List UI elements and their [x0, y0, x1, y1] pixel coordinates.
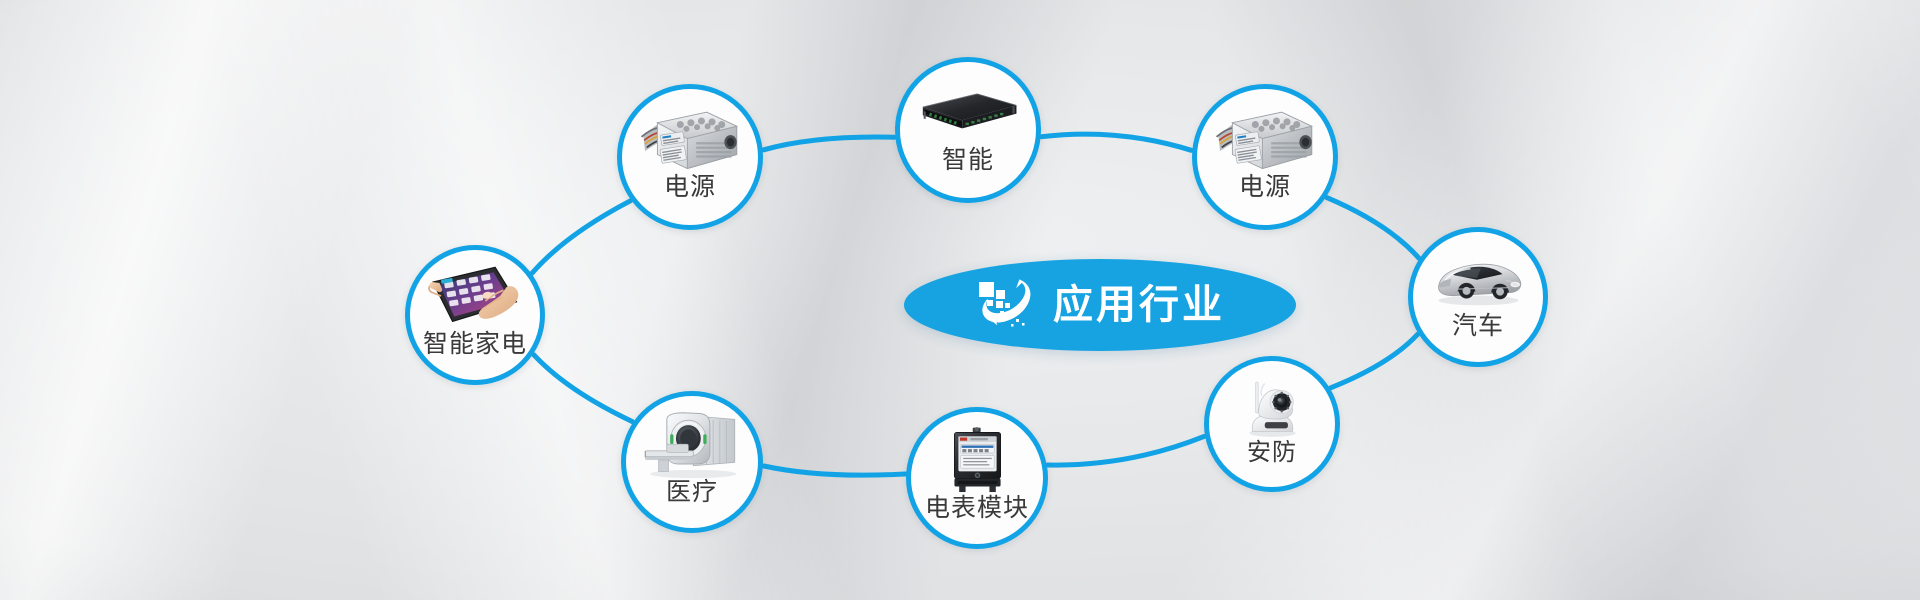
node-smart[interactable]: 智能	[895, 57, 1041, 203]
rack-server-icon	[900, 74, 1036, 150]
ct-scanner-icon	[626, 408, 758, 482]
sports-car-icon	[1413, 244, 1543, 317]
link-automotive-to-security	[1331, 334, 1418, 388]
link-power-right-to-automotive	[1327, 198, 1419, 258]
node-label: 智能家电	[423, 332, 527, 357]
node-power-right[interactable]: 电源	[1192, 84, 1338, 230]
link-meter-module-to-medical	[764, 466, 905, 475]
electric-meter-icon	[911, 424, 1043, 498]
pc-power-supply-icon	[622, 101, 758, 177]
link-smart-to-power-right	[1042, 134, 1192, 150]
node-smart-home[interactable]: 智能家电	[405, 245, 545, 385]
link-power-left-to-smart	[764, 137, 895, 150]
node-label: 电源	[664, 175, 716, 200]
ip-camera-icon	[1209, 372, 1335, 443]
node-medical[interactable]: 医疗	[621, 391, 763, 533]
application-industries-diagram: 智能家电电源智能电源汽车安防电表模块医疗	[0, 0, 1920, 600]
pc-power-supply-icon	[1197, 101, 1333, 177]
node-power-left[interactable]: 电源	[617, 84, 763, 230]
link-medical-to-smart-home	[534, 355, 633, 422]
center-badge[interactable]: 应用行业	[904, 259, 1296, 351]
center-badge-label: 应用行业	[1053, 285, 1225, 325]
tablet-in-hands-icon	[410, 262, 540, 335]
node-label: 安防	[1247, 441, 1297, 465]
node-label: 智能	[942, 148, 994, 173]
link-security-to-meter-module	[1048, 436, 1204, 465]
node-label: 电源	[1239, 175, 1291, 200]
node-security[interactable]: 安防	[1204, 356, 1340, 492]
node-meter-module[interactable]: 电表模块	[906, 407, 1048, 549]
pixel-swoosh-logo-icon	[975, 276, 1037, 334]
node-label: 电表模块	[925, 496, 1029, 521]
node-label: 汽车	[1452, 314, 1504, 339]
node-automotive[interactable]: 汽车	[1408, 227, 1548, 367]
link-smart-home-to-power-left	[532, 201, 630, 273]
node-label: 医疗	[666, 480, 718, 505]
